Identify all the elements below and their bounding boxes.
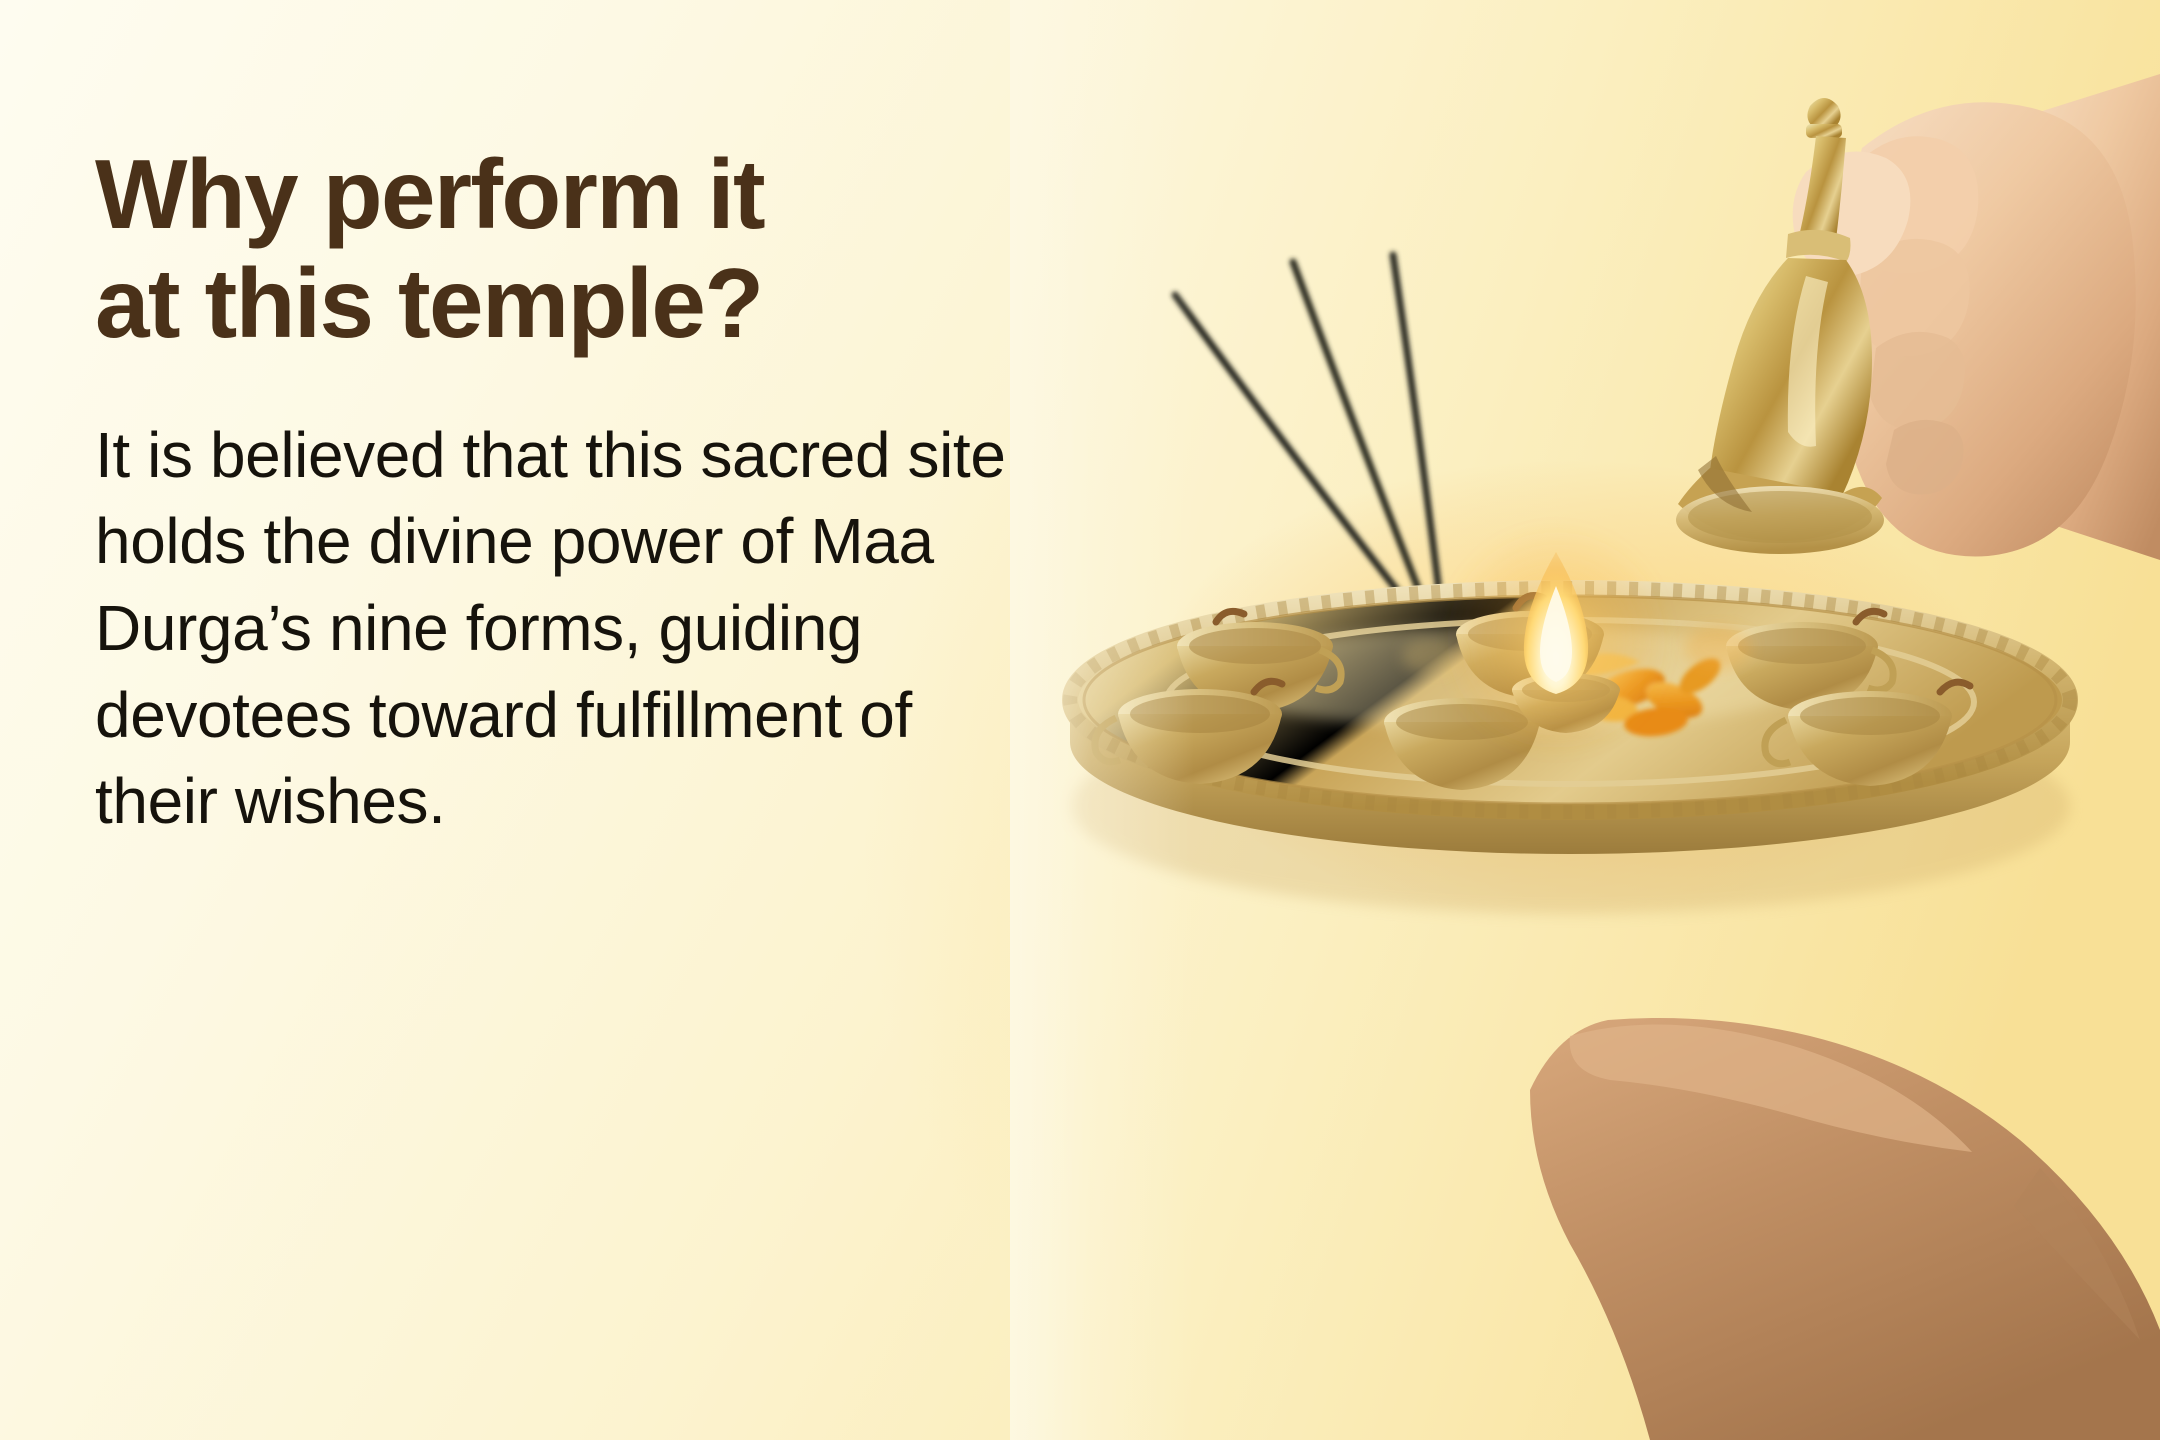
bell-mouth-inner	[1688, 491, 1872, 543]
page-title: Why perform it at this temple?	[95, 140, 1075, 358]
bell-collar	[1806, 124, 1842, 138]
promo-banner: Why perform it at this temple? It is bel…	[0, 0, 2160, 1440]
puja-illustration	[1010, 0, 2160, 1440]
text-column: Why perform it at this temple? It is bel…	[95, 140, 1075, 845]
puja-photograph	[1010, 0, 2160, 1440]
lit-flame	[1440, 524, 1672, 756]
body-paragraph: It is believed that this sacred site hol…	[95, 412, 1025, 846]
